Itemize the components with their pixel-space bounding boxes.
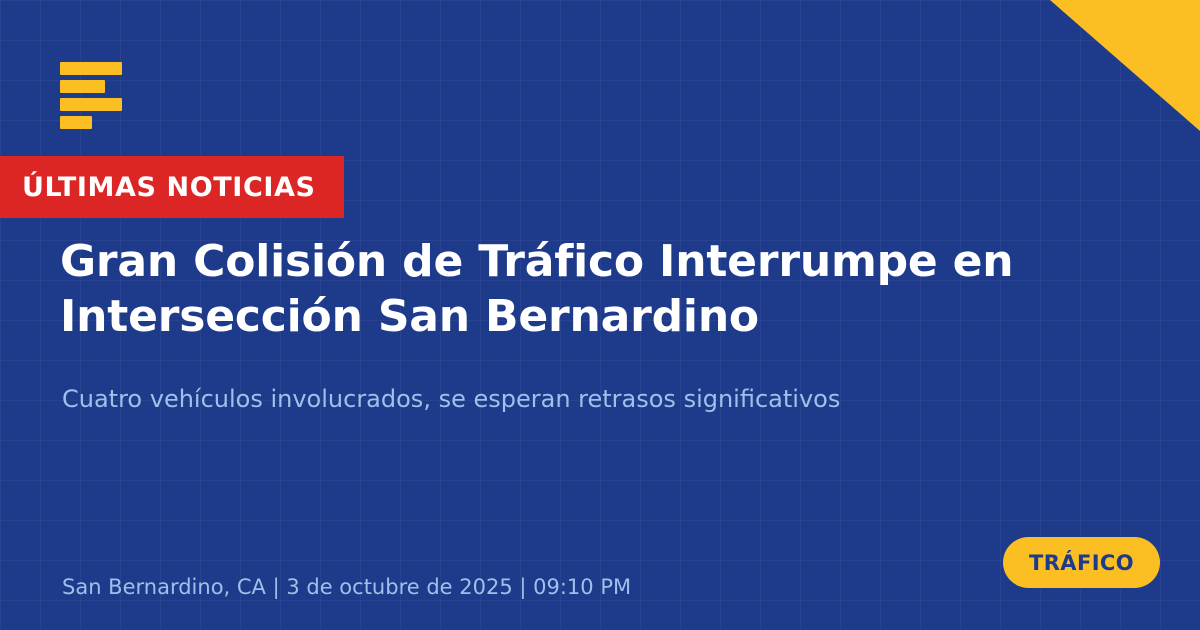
news-brand-logo: [60, 62, 122, 129]
article-headline: Gran Colisión de Tráfico Interrumpe en I…: [60, 234, 1170, 345]
top-right-yellow-triangle-icon: [1050, 0, 1200, 131]
breaking-news-badge: ÚLTIMAS NOTICIAS: [0, 156, 344, 218]
category-badge-traffic: TRÁFICO: [1003, 537, 1160, 588]
article-subtitle: Cuatro vehículos involucrados, se espera…: [62, 384, 1122, 415]
logo-bar-medium: [60, 80, 105, 93]
news-graphic-card: ÚLTIMAS NOTICIAS Gran Colisión de Tráfic…: [0, 0, 1200, 630]
logo-bar-short: [60, 116, 92, 129]
logo-bar-long-1: [60, 62, 122, 75]
logo-bar-long-2: [60, 98, 122, 111]
footer-meta-line: San Bernardino, CA | 3 de octubre de 202…: [62, 575, 631, 599]
